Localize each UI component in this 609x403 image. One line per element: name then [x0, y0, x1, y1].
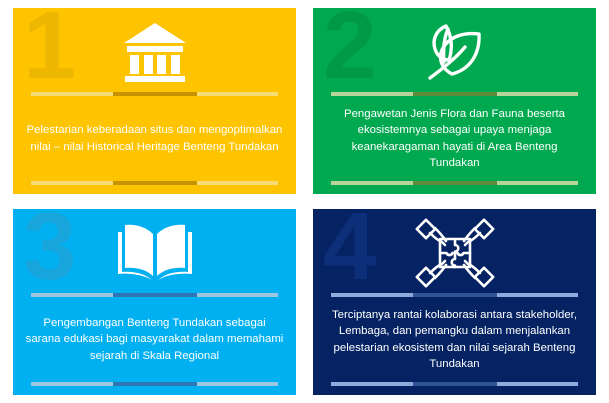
- divider-segment-left: [331, 181, 413, 185]
- divider-segment-center: [113, 382, 197, 386]
- divider-bottom-3: [31, 382, 278, 386]
- objective-text-4: Terciptanya rantai kolaborasi antara sta…: [326, 297, 584, 382]
- divider-segment-left: [331, 382, 413, 386]
- divider-segment-left: [31, 382, 113, 386]
- objective-card-3[interactable]: 3 Pengembangan Benteng Tundakan sebagai …: [13, 209, 296, 395]
- divider-segment-right: [197, 382, 279, 386]
- divider-segment-left: [31, 181, 113, 185]
- divider-bottom-1: [31, 181, 278, 185]
- divider-segment-right: [497, 382, 579, 386]
- museum-icon: [13, 8, 296, 92]
- objectives-card-grid: 1 Pelestarian keberadaan situs dan mengo…: [0, 0, 609, 403]
- objective-text-1: Pelestarian keberadaan situs dan mengopt…: [26, 96, 284, 181]
- divider-segment-center: [113, 181, 197, 185]
- leaf-icon: [313, 8, 596, 92]
- divider-segment-center: [413, 181, 497, 185]
- divider-segment-right: [497, 181, 579, 185]
- objective-card-2[interactable]: 2 Pengawetan Jenis Flora dan Fauna beser…: [313, 8, 596, 194]
- collaboration-puzzle-hands-icon: [313, 209, 596, 293]
- divider-bottom-4: [331, 382, 578, 386]
- objective-card-4[interactable]: 4: [313, 209, 596, 395]
- objective-card-1[interactable]: 1 Pelestarian keberadaan situs dan mengo…: [13, 8, 296, 194]
- objective-text-2: Pengawetan Jenis Flora dan Fauna beserta…: [326, 96, 584, 181]
- divider-segment-center: [413, 382, 497, 386]
- divider-bottom-2: [331, 181, 578, 185]
- open-book-icon: [13, 209, 296, 293]
- divider-segment-right: [197, 181, 279, 185]
- objective-text-3: Pengembangan Benteng Tundakan sebagai sa…: [26, 297, 284, 382]
